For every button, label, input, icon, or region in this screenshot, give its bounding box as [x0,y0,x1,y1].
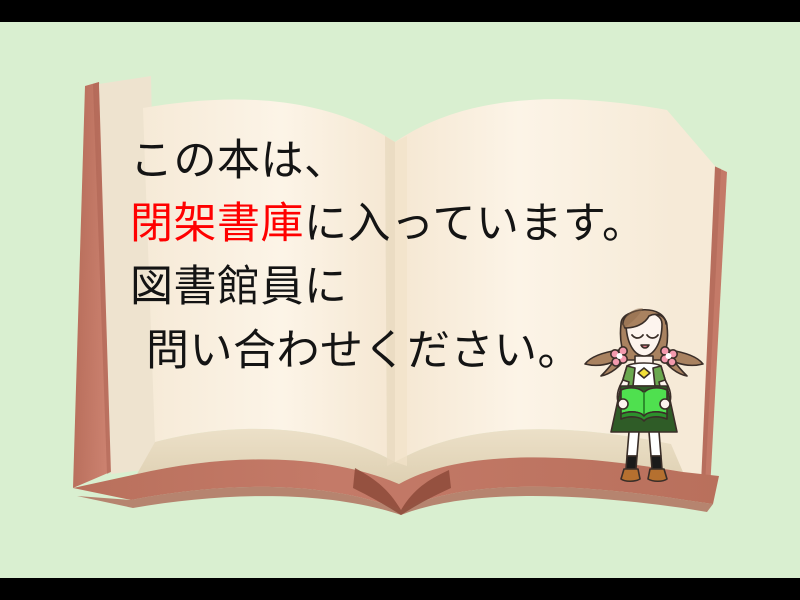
leg-right [649,432,661,456]
message-line-2: 閉架書庫に入っています。 [130,193,690,256]
shoe-left [621,469,640,481]
message-highlight-term: 閉架書庫 [130,199,304,249]
leg-left [627,432,639,456]
sock-left [626,456,637,469]
sock-right [651,456,662,469]
letterbox-bar-top [0,0,800,22]
hand-right [660,399,670,409]
flower-hair-tie-right [661,347,677,366]
message-line-1-text: この本は、 [130,136,348,186]
librarian-girl-illustration [583,294,705,484]
message-line-1: この本は、 [130,130,690,193]
hand-left [618,399,628,409]
slide-stage: この本は、 閉架書庫に入っています。 図書館員に 問い合わせください。 [0,0,800,600]
slide-canvas: この本は、 閉架書庫に入っています。 図書館員に 問い合わせください。 [0,22,800,578]
message-line-3-text: 図書館員に [130,262,348,312]
message-line-4-text: 問い合わせください。 [146,326,581,376]
mouth [641,345,649,348]
message-line-2-text: に入っています。 [304,199,646,249]
flower-hair-tie-left [611,347,627,366]
letterbox-bar-bottom [0,578,800,600]
shoe-right [648,469,667,481]
